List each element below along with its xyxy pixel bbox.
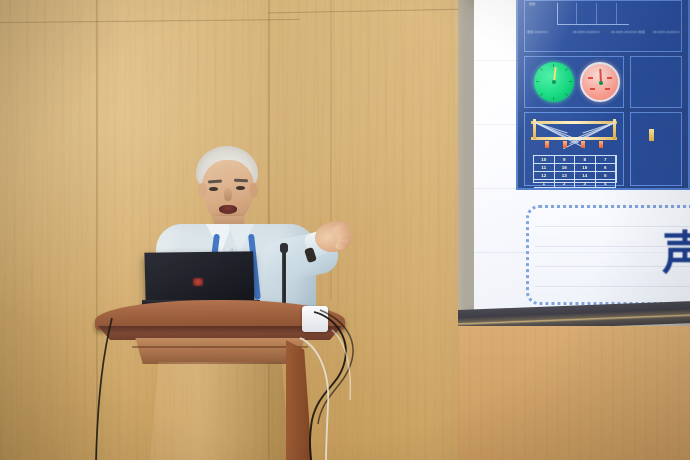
screenshot-scene: 参数 项目 2020/4/3 08.0645 2020/4/3 08.3645 … [0,0,690,460]
cable-group [0,0,690,460]
